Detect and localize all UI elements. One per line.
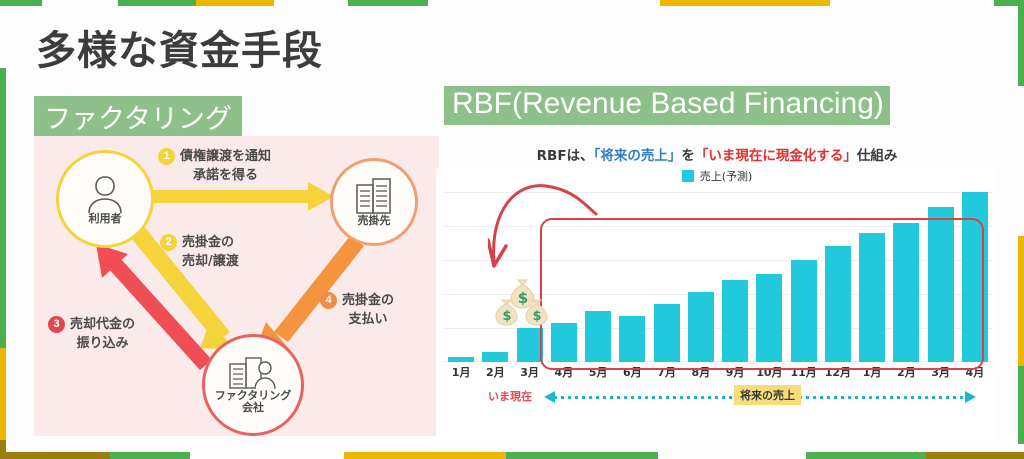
timeline-arrow-right-icon — [965, 391, 976, 403]
x-tick-label: 7月 — [650, 364, 684, 380]
timeline-future-label: 将来の売上 — [734, 385, 801, 405]
node-factoring-company: ファクタリング 会社 — [202, 334, 304, 436]
x-tick-label: 1月 — [855, 364, 889, 380]
page-title: 多様な資金手段 — [36, 18, 323, 76]
node-user: 利用者 — [56, 150, 154, 248]
factoring-diagram: 利用者 売掛先 — [34, 136, 439, 436]
company-person-icon — [227, 356, 279, 390]
svg-text:$: $ — [518, 289, 528, 307]
bar-9月 — [722, 280, 748, 362]
right-band-green-top — [1018, 0, 1024, 86]
right-band-green-bottom — [1018, 366, 1024, 444]
step-4-line2: 支払い — [342, 311, 394, 330]
x-tick-label: 3月 — [513, 364, 547, 380]
x-tick-label: 2月 — [889, 364, 923, 380]
x-tick-label: 5月 — [581, 364, 615, 380]
step-3-line2: 振り込み — [70, 335, 135, 354]
bar-4月 — [551, 323, 577, 362]
bar-3月 — [517, 328, 543, 362]
bar-cell — [650, 192, 684, 362]
step-4-number: 4 — [320, 292, 337, 309]
bar-cell — [889, 192, 923, 362]
rbf-subtitle: RBFは、「将来の売上」を「いま現在に現金化する」仕組み — [434, 144, 1000, 164]
bar-cell — [821, 192, 855, 362]
bar-1月 — [448, 357, 474, 362]
step-4-line1: 売掛金の — [342, 293, 394, 308]
bar-2月 — [482, 352, 508, 362]
bottom-band-green-1 — [110, 452, 190, 459]
step-1-number: 1 — [158, 148, 175, 165]
step-1-line2: 承諾を得る — [180, 167, 271, 186]
bar-cell — [855, 192, 889, 362]
bar-cell — [787, 192, 821, 362]
node-user-label: 利用者 — [89, 213, 122, 225]
node-buyer: 売掛先 — [330, 158, 418, 246]
money-bag-icon: $ $ $ — [492, 272, 552, 332]
timeline-now-label: いま現在 — [488, 388, 532, 404]
step-4: 4 売掛金の 支払い — [320, 292, 394, 330]
bar-cell — [718, 192, 752, 362]
step-2-line1: 売掛金の — [182, 235, 234, 250]
bar-1月 — [859, 233, 885, 362]
bar-cell — [684, 192, 718, 362]
bottom-band-green-2 — [506, 452, 658, 459]
chart-timeline: いま現在 将来の売上 — [444, 384, 992, 410]
bar-11月 — [791, 260, 817, 362]
left-band-green — [0, 68, 6, 348]
x-tick-label: 10月 — [752, 364, 786, 380]
revenue-forecast-chart: 売上(予測) 1月2月3月4月5月6月7月8月9月10月11月12月1月2月3月… — [436, 168, 998, 440]
top-band-yellow-2 — [660, 0, 830, 6]
bottom-band-olive-2 — [926, 452, 1024, 459]
person-icon — [83, 173, 127, 213]
step-3: 3 売却代金の 振り込み — [48, 316, 135, 354]
top-band-yellow-1 — [196, 0, 274, 6]
bar-cell — [615, 192, 649, 362]
x-tick-label: 1月 — [444, 364, 478, 380]
bar-3月 — [928, 207, 954, 362]
bar-8月 — [688, 292, 714, 362]
rbf-subtitle-quote-now: 「いま現在に現金化する」 — [695, 148, 857, 164]
bar-7月 — [654, 304, 680, 362]
step-1-line1: 債権譲渡を通知 — [180, 149, 271, 164]
right-panel: RBF(Revenue Based Financing) RBFは、「将来の売上… — [434, 10, 1000, 450]
bar-6月 — [619, 316, 645, 362]
node-factoring-label-2: 会社 — [242, 402, 264, 414]
factoring-badge: ファクタリング — [34, 96, 242, 139]
x-tick-label: 9月 — [718, 364, 752, 380]
bar-2月 — [893, 223, 919, 362]
left-band-yellow — [0, 348, 6, 440]
chart-legend: 売上(予測) — [436, 168, 998, 184]
bar-cell — [752, 192, 786, 362]
top-band-green-1 — [0, 0, 42, 6]
node-factoring-label-1: ファクタリング — [215, 390, 292, 402]
bar-cell — [924, 192, 958, 362]
bar-cell — [581, 192, 615, 362]
bar-12月 — [825, 246, 851, 362]
x-tick-label: 6月 — [615, 364, 649, 380]
chart-x-axis: 1月2月3月4月5月6月7月8月9月10月11月12月1月2月3月4月 — [444, 364, 992, 380]
x-tick-label: 4月 — [958, 364, 992, 380]
slide-canvas: 多様な資金手段 ファクタリング — [0, 0, 1024, 459]
legend-label-sales: 売上(予測) — [700, 170, 753, 183]
rbf-subtitle-p2: を — [681, 148, 695, 164]
rbf-subtitle-p1: RBFは、 — [537, 148, 594, 164]
x-tick-label: 12月 — [821, 364, 855, 380]
step-2: 2 売掛金の 売却/譲渡 — [160, 234, 239, 272]
bottom-band-green-3 — [806, 452, 926, 459]
bar-4月 — [962, 192, 988, 362]
rbf-subtitle-p3: 仕組み — [857, 148, 898, 164]
x-tick-label: 4月 — [547, 364, 581, 380]
step-2-line2: 売却/譲渡 — [182, 253, 239, 272]
bar-5月 — [585, 311, 611, 362]
svg-text:$: $ — [502, 309, 511, 324]
bar-cell — [958, 192, 992, 362]
arrow-1-yellow — [144, 182, 334, 211]
x-tick-label: 11月 — [787, 364, 821, 380]
bottom-band-yellow-1 — [344, 452, 506, 459]
bar-cell — [444, 192, 478, 362]
bar-10月 — [756, 274, 782, 362]
x-tick-label: 8月 — [684, 364, 718, 380]
rbf-subtitle-quote-future: 「将来の売上」 — [594, 148, 682, 164]
building-icon — [353, 177, 395, 215]
rbf-badge: RBF(Revenue Based Financing) — [444, 86, 890, 125]
node-buyer-label: 売掛先 — [358, 215, 391, 227]
x-tick-label: 3月 — [924, 364, 958, 380]
left-panel: 多様な資金手段 ファクタリング — [22, 10, 442, 450]
step-3-line1: 売却代金の — [70, 317, 135, 332]
top-band-green-2 — [118, 0, 196, 6]
step-1: 1 債権譲渡を通知 承諾を得る — [158, 148, 271, 186]
x-tick-label: 2月 — [478, 364, 512, 380]
step-3-number: 3 — [48, 316, 65, 333]
legend-swatch-sales — [682, 170, 694, 182]
top-band-green-3 — [348, 0, 428, 6]
right-band-yellow — [1018, 236, 1024, 366]
svg-text:$: $ — [532, 309, 541, 324]
step-2-number: 2 — [160, 234, 177, 251]
